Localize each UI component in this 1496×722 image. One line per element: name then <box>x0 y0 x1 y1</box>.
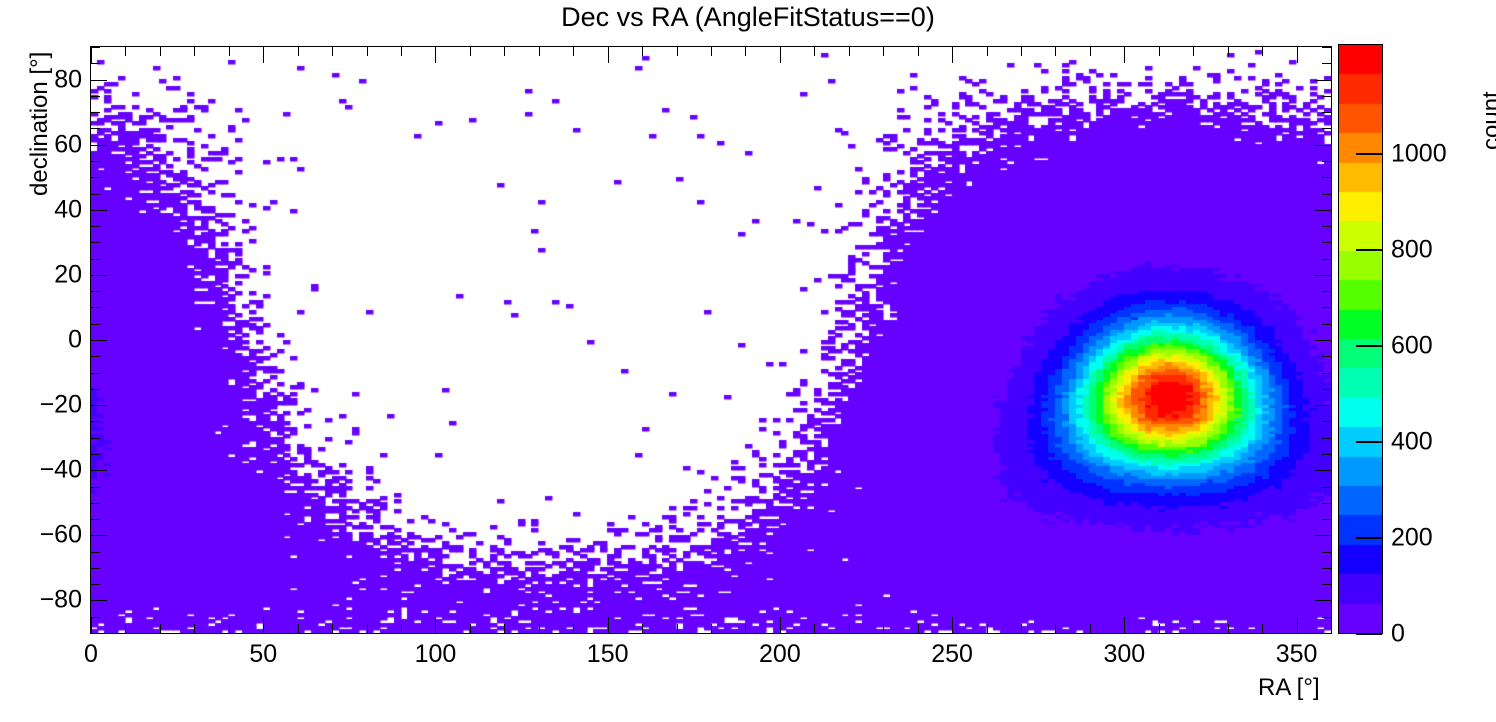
x-minor-tick-top <box>711 47 712 56</box>
x-minor-tick <box>332 624 333 633</box>
y-minor-tick-right <box>1322 47 1331 48</box>
color-scale-tick-label: 800 <box>1391 236 1433 265</box>
x-major-tick-top <box>1297 47 1298 63</box>
x-minor-tick-top <box>160 47 161 56</box>
y-major-tick-right <box>1315 405 1331 406</box>
y-minor-tick-right <box>1322 194 1331 195</box>
x-minor-tick <box>160 624 161 633</box>
y-major-tick-right <box>1315 535 1331 536</box>
y-minor-tick <box>91 63 100 64</box>
y-minor-tick-right <box>1322 63 1331 64</box>
y-minor-tick <box>91 633 100 634</box>
x-major-tick <box>1124 617 1125 633</box>
y-minor-tick-right <box>1322 552 1331 553</box>
y-minor-tick-right <box>1322 259 1331 260</box>
x-minor-tick <box>229 624 230 633</box>
x-minor-tick <box>504 624 505 633</box>
y-minor-tick <box>91 421 100 422</box>
x-minor-tick-top <box>1193 47 1194 56</box>
y-minor-tick <box>91 389 100 390</box>
y-tick-label: −80 <box>12 586 82 615</box>
x-minor-tick-top <box>814 47 815 56</box>
page-title: Dec vs RA (AngleFitStatus==0) <box>0 2 1496 33</box>
x-minor-tick <box>125 624 126 633</box>
y-major-tick <box>91 210 107 211</box>
y-tick-label: −40 <box>12 456 82 485</box>
color-scale-tick <box>1356 537 1382 539</box>
y-minor-tick-right <box>1322 617 1331 618</box>
histogram-canvas <box>91 47 1331 633</box>
color-scale-tick <box>1356 153 1382 155</box>
y-minor-tick-right <box>1322 324 1331 325</box>
color-scale-tick <box>1356 345 1382 347</box>
x-tick-label: 250 <box>931 640 973 669</box>
x-minor-tick <box>1055 624 1056 633</box>
y-minor-tick <box>91 177 100 178</box>
y-minor-tick <box>91 373 100 374</box>
x-minor-tick-top <box>1055 47 1056 56</box>
x-minor-tick-top <box>918 47 919 56</box>
x-minor-tick-top <box>677 47 678 56</box>
x-minor-tick-top <box>539 47 540 56</box>
x-minor-tick <box>573 624 574 633</box>
y-tick-label: 20 <box>12 260 82 289</box>
x-major-tick-top <box>952 47 953 63</box>
y-minor-tick <box>91 584 100 585</box>
color-scale-canvas <box>1339 45 1382 633</box>
x-minor-tick <box>1228 624 1229 633</box>
y-tick-label: 40 <box>12 195 82 224</box>
x-minor-tick <box>745 624 746 633</box>
y-minor-tick-right <box>1322 421 1331 422</box>
x-major-tick <box>91 617 92 633</box>
y-minor-tick <box>91 112 100 113</box>
color-scale-tick <box>1356 249 1382 251</box>
x-minor-tick <box>1262 624 1263 633</box>
x-minor-tick <box>194 624 195 633</box>
x-minor-tick-top <box>987 47 988 56</box>
x-minor-tick <box>1331 624 1332 633</box>
x-tick-label: 300 <box>1103 640 1145 669</box>
x-minor-tick <box>711 624 712 633</box>
x-major-tick <box>1297 617 1298 633</box>
y-major-tick-right <box>1315 470 1331 471</box>
y-minor-tick <box>91 96 100 97</box>
x-major-tick <box>952 617 953 633</box>
x-major-tick <box>608 617 609 633</box>
x-minor-tick <box>814 624 815 633</box>
x-minor-tick-top <box>229 47 230 56</box>
y-major-tick <box>91 470 107 471</box>
y-major-tick <box>91 145 107 146</box>
x-minor-tick <box>677 624 678 633</box>
y-minor-tick <box>91 307 100 308</box>
color-scale-bar <box>1338 44 1383 634</box>
x-minor-tick <box>298 624 299 633</box>
x-minor-tick <box>1193 624 1194 633</box>
x-major-tick <box>263 617 264 633</box>
y-minor-tick <box>91 259 100 260</box>
y-minor-tick-right <box>1322 389 1331 390</box>
y-major-tick <box>91 275 107 276</box>
y-minor-tick <box>91 324 100 325</box>
y-minor-tick-right <box>1322 503 1331 504</box>
y-minor-tick <box>91 568 100 569</box>
x-minor-tick-top <box>332 47 333 56</box>
x-minor-tick <box>918 624 919 633</box>
x-major-tick-top <box>435 47 436 63</box>
x-minor-tick-top <box>125 47 126 56</box>
x-minor-tick-top <box>1021 47 1022 56</box>
y-major-tick <box>91 405 107 406</box>
x-minor-tick-top <box>1262 47 1263 56</box>
y-minor-tick-right <box>1322 568 1331 569</box>
x-minor-tick <box>849 624 850 633</box>
y-minor-tick-right <box>1322 112 1331 113</box>
y-minor-tick-right <box>1322 584 1331 585</box>
y-major-tick <box>91 600 107 601</box>
x-minor-tick-top <box>401 47 402 56</box>
x-minor-tick-top <box>573 47 574 56</box>
y-tick-label: −20 <box>12 391 82 420</box>
x-minor-tick-top <box>642 47 643 56</box>
x-minor-tick <box>883 624 884 633</box>
y-minor-tick <box>91 356 100 357</box>
x-major-tick-top <box>608 47 609 63</box>
y-minor-tick-right <box>1322 373 1331 374</box>
x-tick-label: 50 <box>249 640 277 669</box>
x-major-tick <box>780 617 781 633</box>
x-minor-tick <box>401 624 402 633</box>
y-minor-tick-right <box>1322 438 1331 439</box>
x-minor-tick-top <box>470 47 471 56</box>
x-minor-tick-top <box>194 47 195 56</box>
color-scale-tick-label: 1000 <box>1391 140 1447 169</box>
x-tick-label: 100 <box>415 640 457 669</box>
y-minor-tick-right <box>1322 519 1331 520</box>
x-minor-tick-top <box>504 47 505 56</box>
x-minor-tick-top <box>883 47 884 56</box>
y-minor-tick <box>91 291 100 292</box>
y-minor-tick-right <box>1322 177 1331 178</box>
color-scale-title: count <box>1478 91 1496 150</box>
x-minor-tick-top <box>849 47 850 56</box>
y-minor-tick <box>91 47 100 48</box>
x-tick-label: 200 <box>759 640 801 669</box>
y-major-tick <box>91 535 107 536</box>
x-minor-tick <box>1090 624 1091 633</box>
x-minor-tick <box>642 624 643 633</box>
x-major-tick-top <box>1124 47 1125 63</box>
x-tick-label: 150 <box>587 640 629 669</box>
plot-root: Dec vs RA (AngleFitStatus==0) 0501001502… <box>0 0 1496 722</box>
y-major-tick-right <box>1315 275 1331 276</box>
y-tick-label: −60 <box>12 521 82 550</box>
color-scale-tick <box>1356 633 1382 635</box>
x-minor-tick-top <box>1228 47 1229 56</box>
y-minor-tick <box>91 552 100 553</box>
y-minor-tick <box>91 242 100 243</box>
plot-frame <box>90 46 1332 634</box>
x-minor-tick <box>1159 624 1160 633</box>
y-major-tick-right <box>1315 210 1331 211</box>
color-scale-tick-label: 200 <box>1391 524 1433 553</box>
y-minor-tick <box>91 454 100 455</box>
x-minor-tick-top <box>1159 47 1160 56</box>
y-minor-tick-right <box>1322 487 1331 488</box>
color-scale-tick-label: 600 <box>1391 332 1433 361</box>
color-scale-tick-label: 0 <box>1391 620 1405 649</box>
y-minor-tick-right <box>1322 356 1331 357</box>
y-minor-tick-right <box>1322 291 1331 292</box>
y-major-tick-right <box>1315 340 1331 341</box>
x-tick-label: 0 <box>84 640 98 669</box>
y-tick-label: 0 <box>12 326 82 355</box>
x-tick-label: 350 <box>1276 640 1318 669</box>
y-major-tick-right <box>1315 80 1331 81</box>
y-minor-tick-right <box>1322 128 1331 129</box>
y-minor-tick-right <box>1322 226 1331 227</box>
y-minor-tick-right <box>1322 161 1331 162</box>
y-minor-tick <box>91 617 100 618</box>
y-minor-tick <box>91 438 100 439</box>
x-minor-tick <box>470 624 471 633</box>
x-minor-tick-top <box>745 47 746 56</box>
y-minor-tick-right <box>1322 307 1331 308</box>
y-minor-tick-right <box>1322 242 1331 243</box>
x-major-tick-top <box>780 47 781 63</box>
y-axis-title: declination [°] <box>26 52 54 196</box>
y-minor-tick-right <box>1322 454 1331 455</box>
y-minor-tick-right <box>1322 96 1331 97</box>
x-major-tick <box>435 617 436 633</box>
y-major-tick <box>91 340 107 341</box>
y-minor-tick <box>91 226 100 227</box>
y-minor-tick <box>91 487 100 488</box>
x-major-tick-top <box>91 47 92 63</box>
y-major-tick-right <box>1315 600 1331 601</box>
y-minor-tick <box>91 519 100 520</box>
x-minor-tick-top <box>1331 47 1332 56</box>
x-major-tick-top <box>263 47 264 63</box>
x-minor-tick <box>1021 624 1022 633</box>
x-minor-tick-top <box>1090 47 1091 56</box>
x-minor-tick <box>539 624 540 633</box>
color-scale-tick <box>1356 441 1382 443</box>
x-minor-tick-top <box>367 47 368 56</box>
x-axis-title: RA [°] <box>1258 674 1320 702</box>
y-minor-tick <box>91 503 100 504</box>
y-minor-tick <box>91 194 100 195</box>
x-minor-tick <box>367 624 368 633</box>
y-major-tick-right <box>1315 145 1331 146</box>
x-minor-tick-top <box>298 47 299 56</box>
color-scale-tick-label: 400 <box>1391 428 1433 457</box>
y-minor-tick <box>91 128 100 129</box>
y-minor-tick-right <box>1322 633 1331 634</box>
y-major-tick <box>91 80 107 81</box>
y-minor-tick <box>91 161 100 162</box>
x-minor-tick <box>987 624 988 633</box>
